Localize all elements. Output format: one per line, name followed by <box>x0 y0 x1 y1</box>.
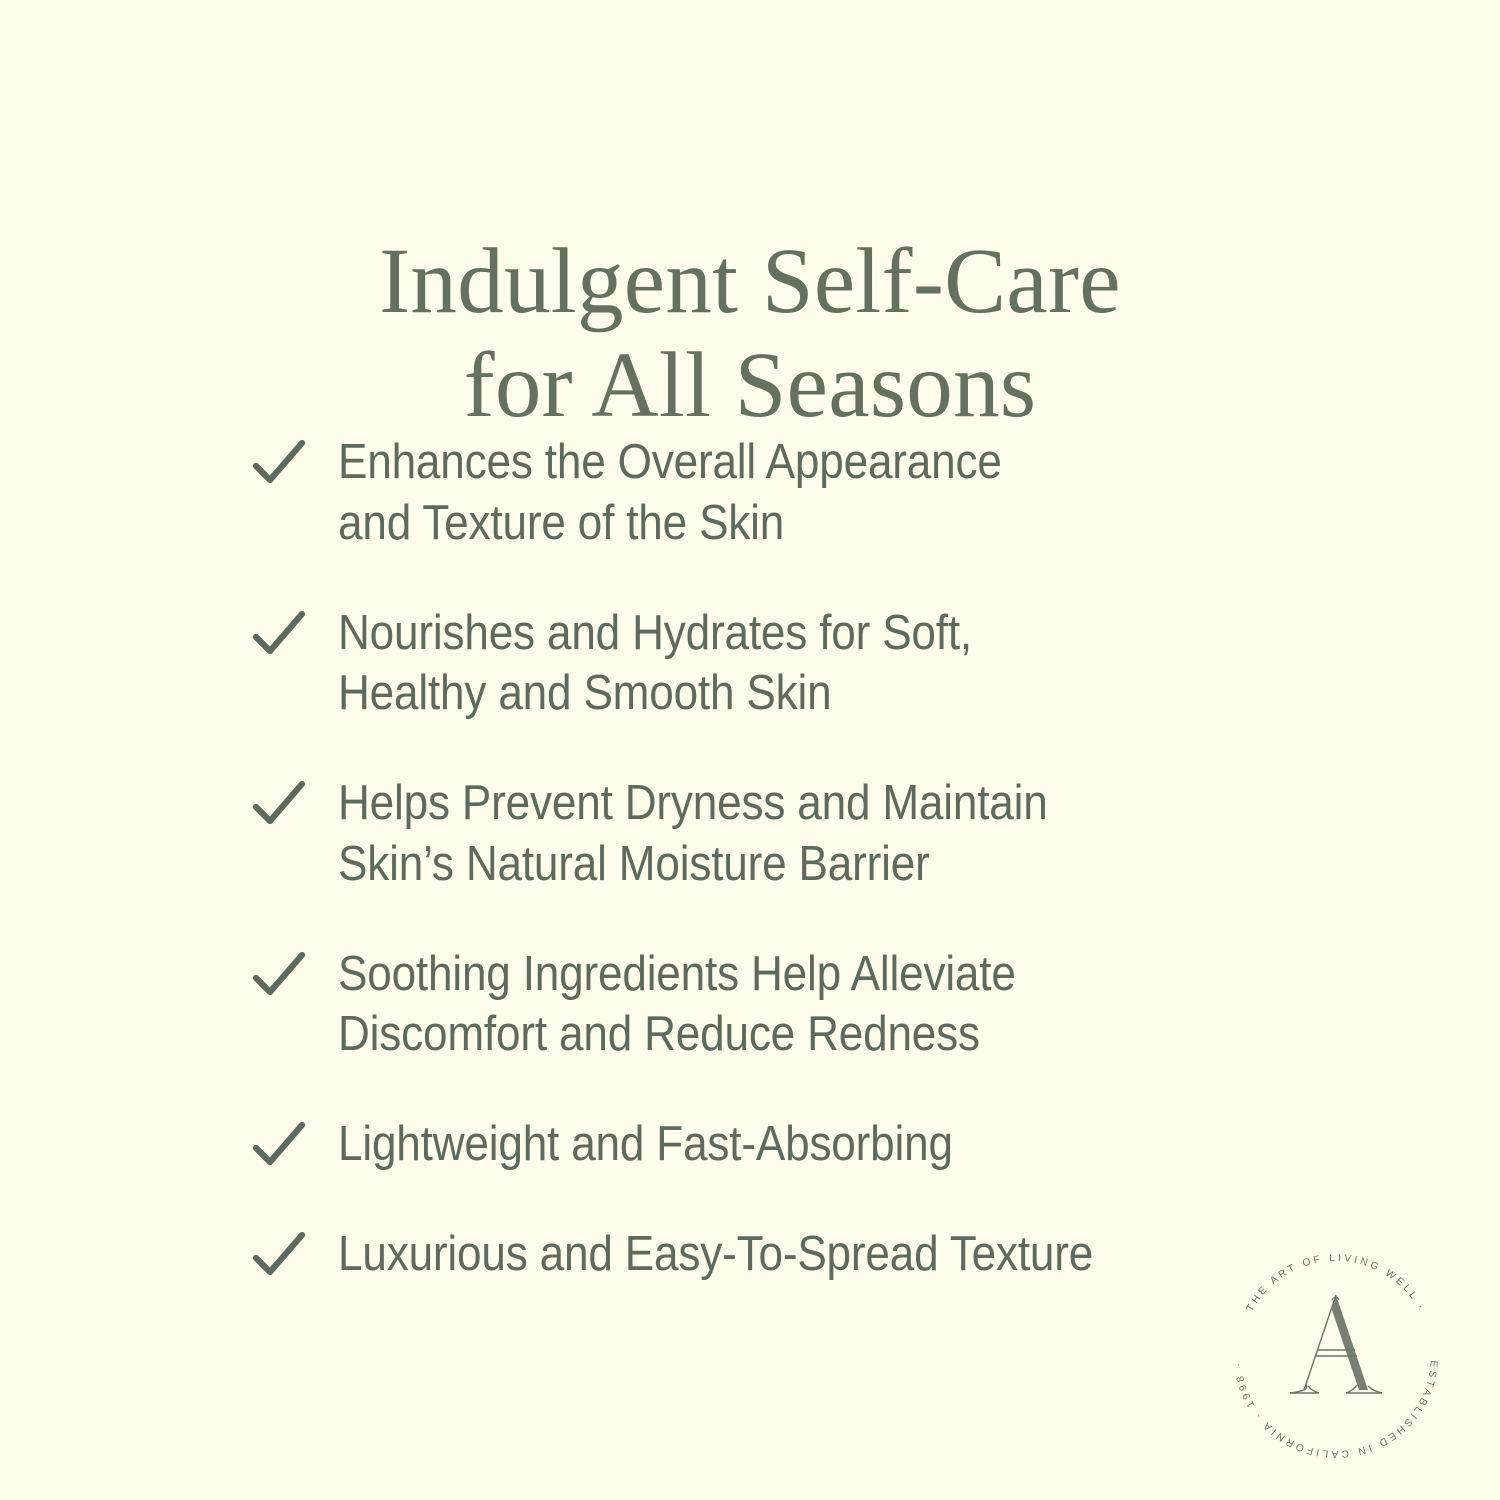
list-item-label: Luxurious and Easy-To-Spread Texture <box>338 1222 1093 1285</box>
list-item: Lightweight and Fast-Absorbing <box>250 1112 1210 1175</box>
page-title-line-2: for All Seasons <box>0 334 1500 438</box>
list-item: Helps Prevent Dryness and Maintain Skin’… <box>250 771 1210 895</box>
checkmark-icon <box>250 1227 308 1285</box>
checkmark-icon <box>250 776 308 834</box>
promo-card: Indulgent Self-Care for All Seasons Enha… <box>0 0 1500 1500</box>
list-item-label: Enhances the Overall Appearance and Text… <box>338 430 1002 554</box>
list-item: Soothing Ingredients Help Alleviate Disc… <box>250 942 1210 1066</box>
checkmark-icon <box>250 606 308 664</box>
list-item-label: Nourishes and Hydrates for Soft, Healthy… <box>338 601 972 725</box>
page-title: Indulgent Self-Care for All Seasons <box>0 230 1500 438</box>
list-item-label: Helps Prevent Dryness and Maintain Skin’… <box>338 771 1048 895</box>
list-item-label: Soothing Ingredients Help Alleviate Disc… <box>338 942 1016 1066</box>
list-item: Luxurious and Easy-To-Spread Texture <box>250 1222 1210 1285</box>
list-item: Enhances the Overall Appearance and Text… <box>250 430 1210 554</box>
seal-bottom-arc-text: ESTABLISHED IN CALIFORNIA · 1998 · <box>1233 1360 1439 1459</box>
checkmark-icon <box>250 1117 308 1175</box>
brand-seal-logo: THE ART OF LIVING WELL · ESTABLISHED IN … <box>1218 1238 1454 1474</box>
benefits-list: Enhances the Overall Appearance and Text… <box>250 430 1210 1332</box>
page-title-line-1: Indulgent Self-Care <box>0 230 1500 334</box>
list-item-label: Lightweight and Fast-Absorbing <box>338 1112 953 1175</box>
list-item: Nourishes and Hydrates for Soft, Healthy… <box>250 601 1210 725</box>
checkmark-icon <box>250 947 308 1005</box>
seal-monogram-a <box>1290 1295 1382 1393</box>
checkmark-icon <box>250 435 308 493</box>
